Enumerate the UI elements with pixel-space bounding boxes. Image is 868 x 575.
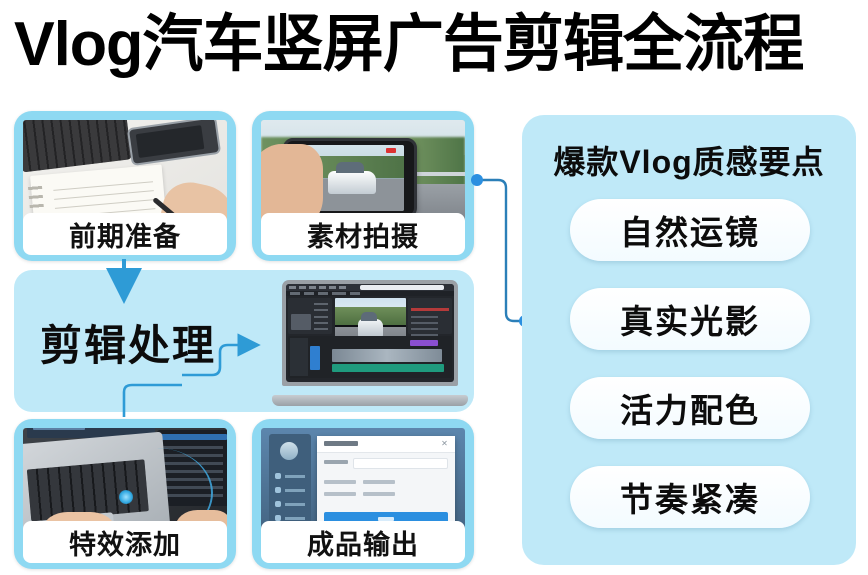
quality-points-panel: 爆款Vlog质感要点 自然运镜 真实光影 活力配色 节奏紧凑 — [522, 115, 856, 565]
connector-flow-to-points — [478, 180, 524, 321]
laptop-editor-illustration — [272, 280, 468, 406]
page-title: Vlog汽车竖屏广告剪辑全流程 — [14, 6, 845, 84]
flow-edit-stage-label: 剪辑处理 — [40, 312, 216, 373]
flow-card-output-label: 成品输出 — [261, 521, 465, 563]
flow-card-shoot-label: 素材拍摄 — [261, 213, 465, 255]
quality-point-2[interactable]: 真实光影 — [570, 288, 810, 350]
flow-card-shoot[interactable]: 素材拍摄 — [252, 111, 474, 261]
flow-card-prep[interactable]: 前期准备 — [14, 111, 236, 261]
quality-point-1-label: 自然运镜 — [620, 206, 760, 254]
quality-points-title: 爆款Vlog质感要点 — [522, 137, 856, 183]
quality-point-4-label: 节奏紧凑 — [620, 473, 760, 521]
flow-card-fx[interactable]: 特效添加 — [14, 419, 236, 569]
flow-card-fx-label: 特效添加 — [23, 521, 227, 563]
quality-point-2-label: 真实光影 — [620, 295, 760, 343]
quality-point-4[interactable]: 节奏紧凑 — [570, 466, 810, 528]
quality-point-3[interactable]: 活力配色 — [570, 377, 810, 439]
flow-edit-stage[interactable]: 剪辑处理 — [14, 270, 474, 412]
quality-point-3-label: 活力配色 — [620, 384, 760, 432]
flow-card-output[interactable]: ✕ 成品输出 — [252, 419, 474, 569]
flow-card-prep-label: 前期准备 — [23, 213, 227, 255]
process-flow: 前期准备 素材拍摄 剪辑处理 — [10, 107, 476, 569]
quality-point-1[interactable]: 自然运镜 — [570, 199, 810, 261]
